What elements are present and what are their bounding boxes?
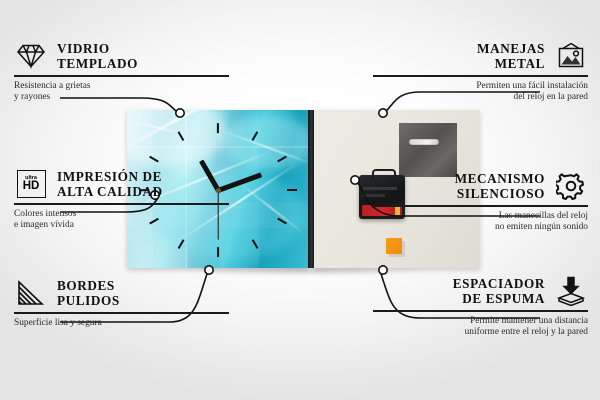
feature-description: Superficie lisa y segura [14, 318, 229, 330]
feature-title-line2: ALTA CALIDAD [57, 184, 163, 200]
feature-title-line2: PULIDOS [57, 293, 120, 309]
gear-icon [554, 170, 588, 202]
divider [373, 310, 588, 312]
feature-title-line1: ESPACIADOR [453, 276, 545, 292]
clock-tick [287, 189, 297, 191]
feature-title: IMPRESIÓN DE ALTA CALIDAD [57, 169, 163, 200]
feature-desc-line2: no emiten ningún sonido [373, 222, 588, 234]
feature-description: Permiten una fácil instalación del reloj… [373, 81, 588, 104]
feature-title-line2: DE ESPUMA [453, 291, 545, 307]
feature-title: MECANISMO SILENCIOSO [455, 171, 545, 202]
clock-tick [217, 123, 219, 133]
ultra-hd-icon-bottom: HD [23, 181, 40, 193]
feature-desc-line2: e imagen vívida [14, 220, 229, 232]
divider [373, 75, 588, 77]
feature-title-line2: SILENCIOSO [455, 186, 545, 202]
feature-desc-line2: uniforme entre el reloj y la pared [373, 327, 588, 339]
feature-manejas-metal: MANEJAS METAL Permiten una fácil instala… [373, 40, 588, 104]
feature-title: MANEJAS METAL [477, 41, 545, 72]
clock-tick [217, 247, 219, 257]
feature-title: VIDRIO TEMPLADO [57, 41, 138, 72]
feature-desc-line1: Permite mantener una distancia [373, 316, 588, 328]
feature-description: Colores intensos e imagen vívida [14, 209, 229, 232]
feature-description: Las manecillas del reloj no emiten ningú… [373, 211, 588, 234]
feature-title: ESPACIADOR DE ESPUMA [453, 276, 545, 307]
feature-title-line1: IMPRESIÓN DE [57, 169, 163, 185]
feature-title-line1: MECANISMO [455, 171, 545, 187]
foam-spacer-arrow-icon [554, 275, 588, 307]
feature-description: Permite mantener una distancia uniforme … [373, 316, 588, 339]
feature-title-line1: BORDES [57, 278, 120, 294]
feature-title-line2: METAL [477, 56, 545, 72]
framed-picture-hanger-icon [554, 40, 588, 72]
divider [14, 203, 229, 205]
feature-title-line1: MANEJAS [477, 41, 545, 57]
hanger-slot [409, 139, 439, 145]
feature-desc-line2: y rayones [14, 92, 229, 104]
feature-impresion-alta-calidad: ultra HD IMPRESIÓN DE ALTA CALIDAD Color… [14, 168, 229, 232]
foam-spacer-pad [386, 238, 402, 254]
feature-title: BORDES PULIDOS [57, 278, 120, 309]
feature-vidrio-templado: VIDRIO TEMPLADO Resistencia a grietas y … [14, 40, 229, 104]
metal-hanger-plate [399, 123, 457, 177]
feature-desc-line1: Superficie lisa y segura [14, 318, 229, 330]
feature-desc-line1: Las manecillas del reloj [373, 211, 588, 223]
feature-title-line1: VIDRIO [57, 41, 138, 57]
feature-bordes-pulidos: BORDES PULIDOS Superficie lisa y segura [14, 277, 229, 329]
divider [373, 205, 588, 207]
diamond-icon [14, 40, 48, 72]
feature-desc-line1: Colores intensos [14, 209, 229, 221]
feature-desc-line2: del reloj en la pared [373, 92, 588, 104]
ultra-hd-icon: ultra HD [14, 168, 48, 200]
feature-desc-line1: Permiten una fácil instalación [373, 81, 588, 93]
feature-description: Resistencia a grietas y rayones [14, 81, 229, 104]
infographic-canvas: VIDRIO TEMPLADO Resistencia a grietas y … [0, 0, 600, 400]
polished-edge-icon [14, 277, 48, 309]
feature-espaciador-de-espuma: ESPACIADOR DE ESPUMA Permite mantener un… [373, 275, 588, 339]
feature-title-line2: TEMPLADO [57, 56, 138, 72]
feature-desc-line1: Resistencia a grietas [14, 81, 229, 93]
divider [14, 312, 229, 314]
divider [14, 75, 229, 77]
feature-mecanismo-silencioso: MECANISMO SILENCIOSO Las manecillas del … [373, 170, 588, 234]
